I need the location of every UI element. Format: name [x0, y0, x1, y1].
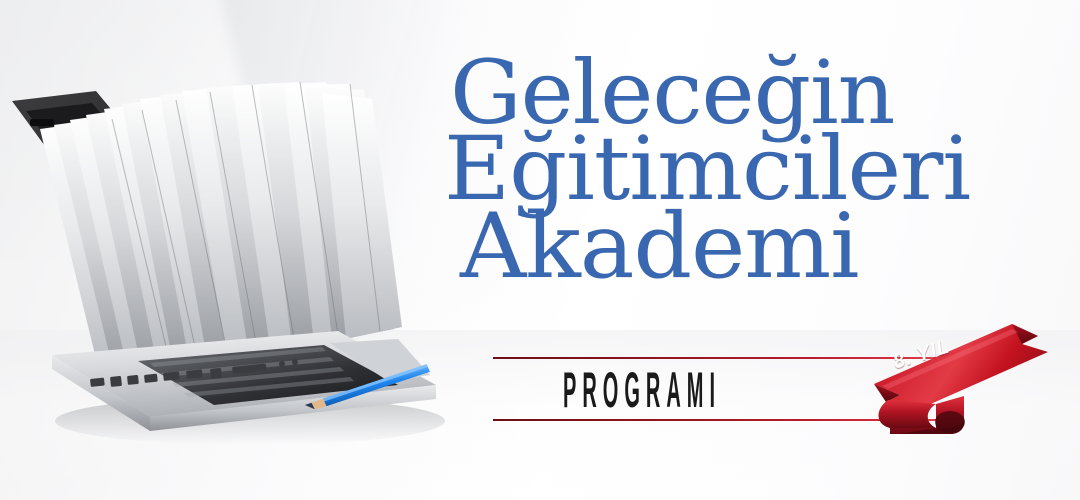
laptop-illustration [0, 55, 450, 475]
laptop-screen-notch [30, 119, 54, 126]
ribbon-curl-inner [935, 411, 965, 433]
ribbon-shape [872, 318, 1080, 438]
headline-block: Geleceğin Eğitimcileri Akademi [440, 58, 1060, 283]
headline-line-3: Akademi [460, 211, 1072, 283]
subtitle-text: PROGRAMI [563, 363, 721, 417]
promo-banner: Geleceğin Eğitimcileri Akademi PROGRAMI [0, 0, 1080, 500]
laptop-with-book-pages-image [0, 55, 450, 475]
book-pages [40, 82, 402, 367]
ribbon-curl [879, 400, 937, 428]
anniversary-ribbon: 8. YIL [872, 318, 1080, 438]
